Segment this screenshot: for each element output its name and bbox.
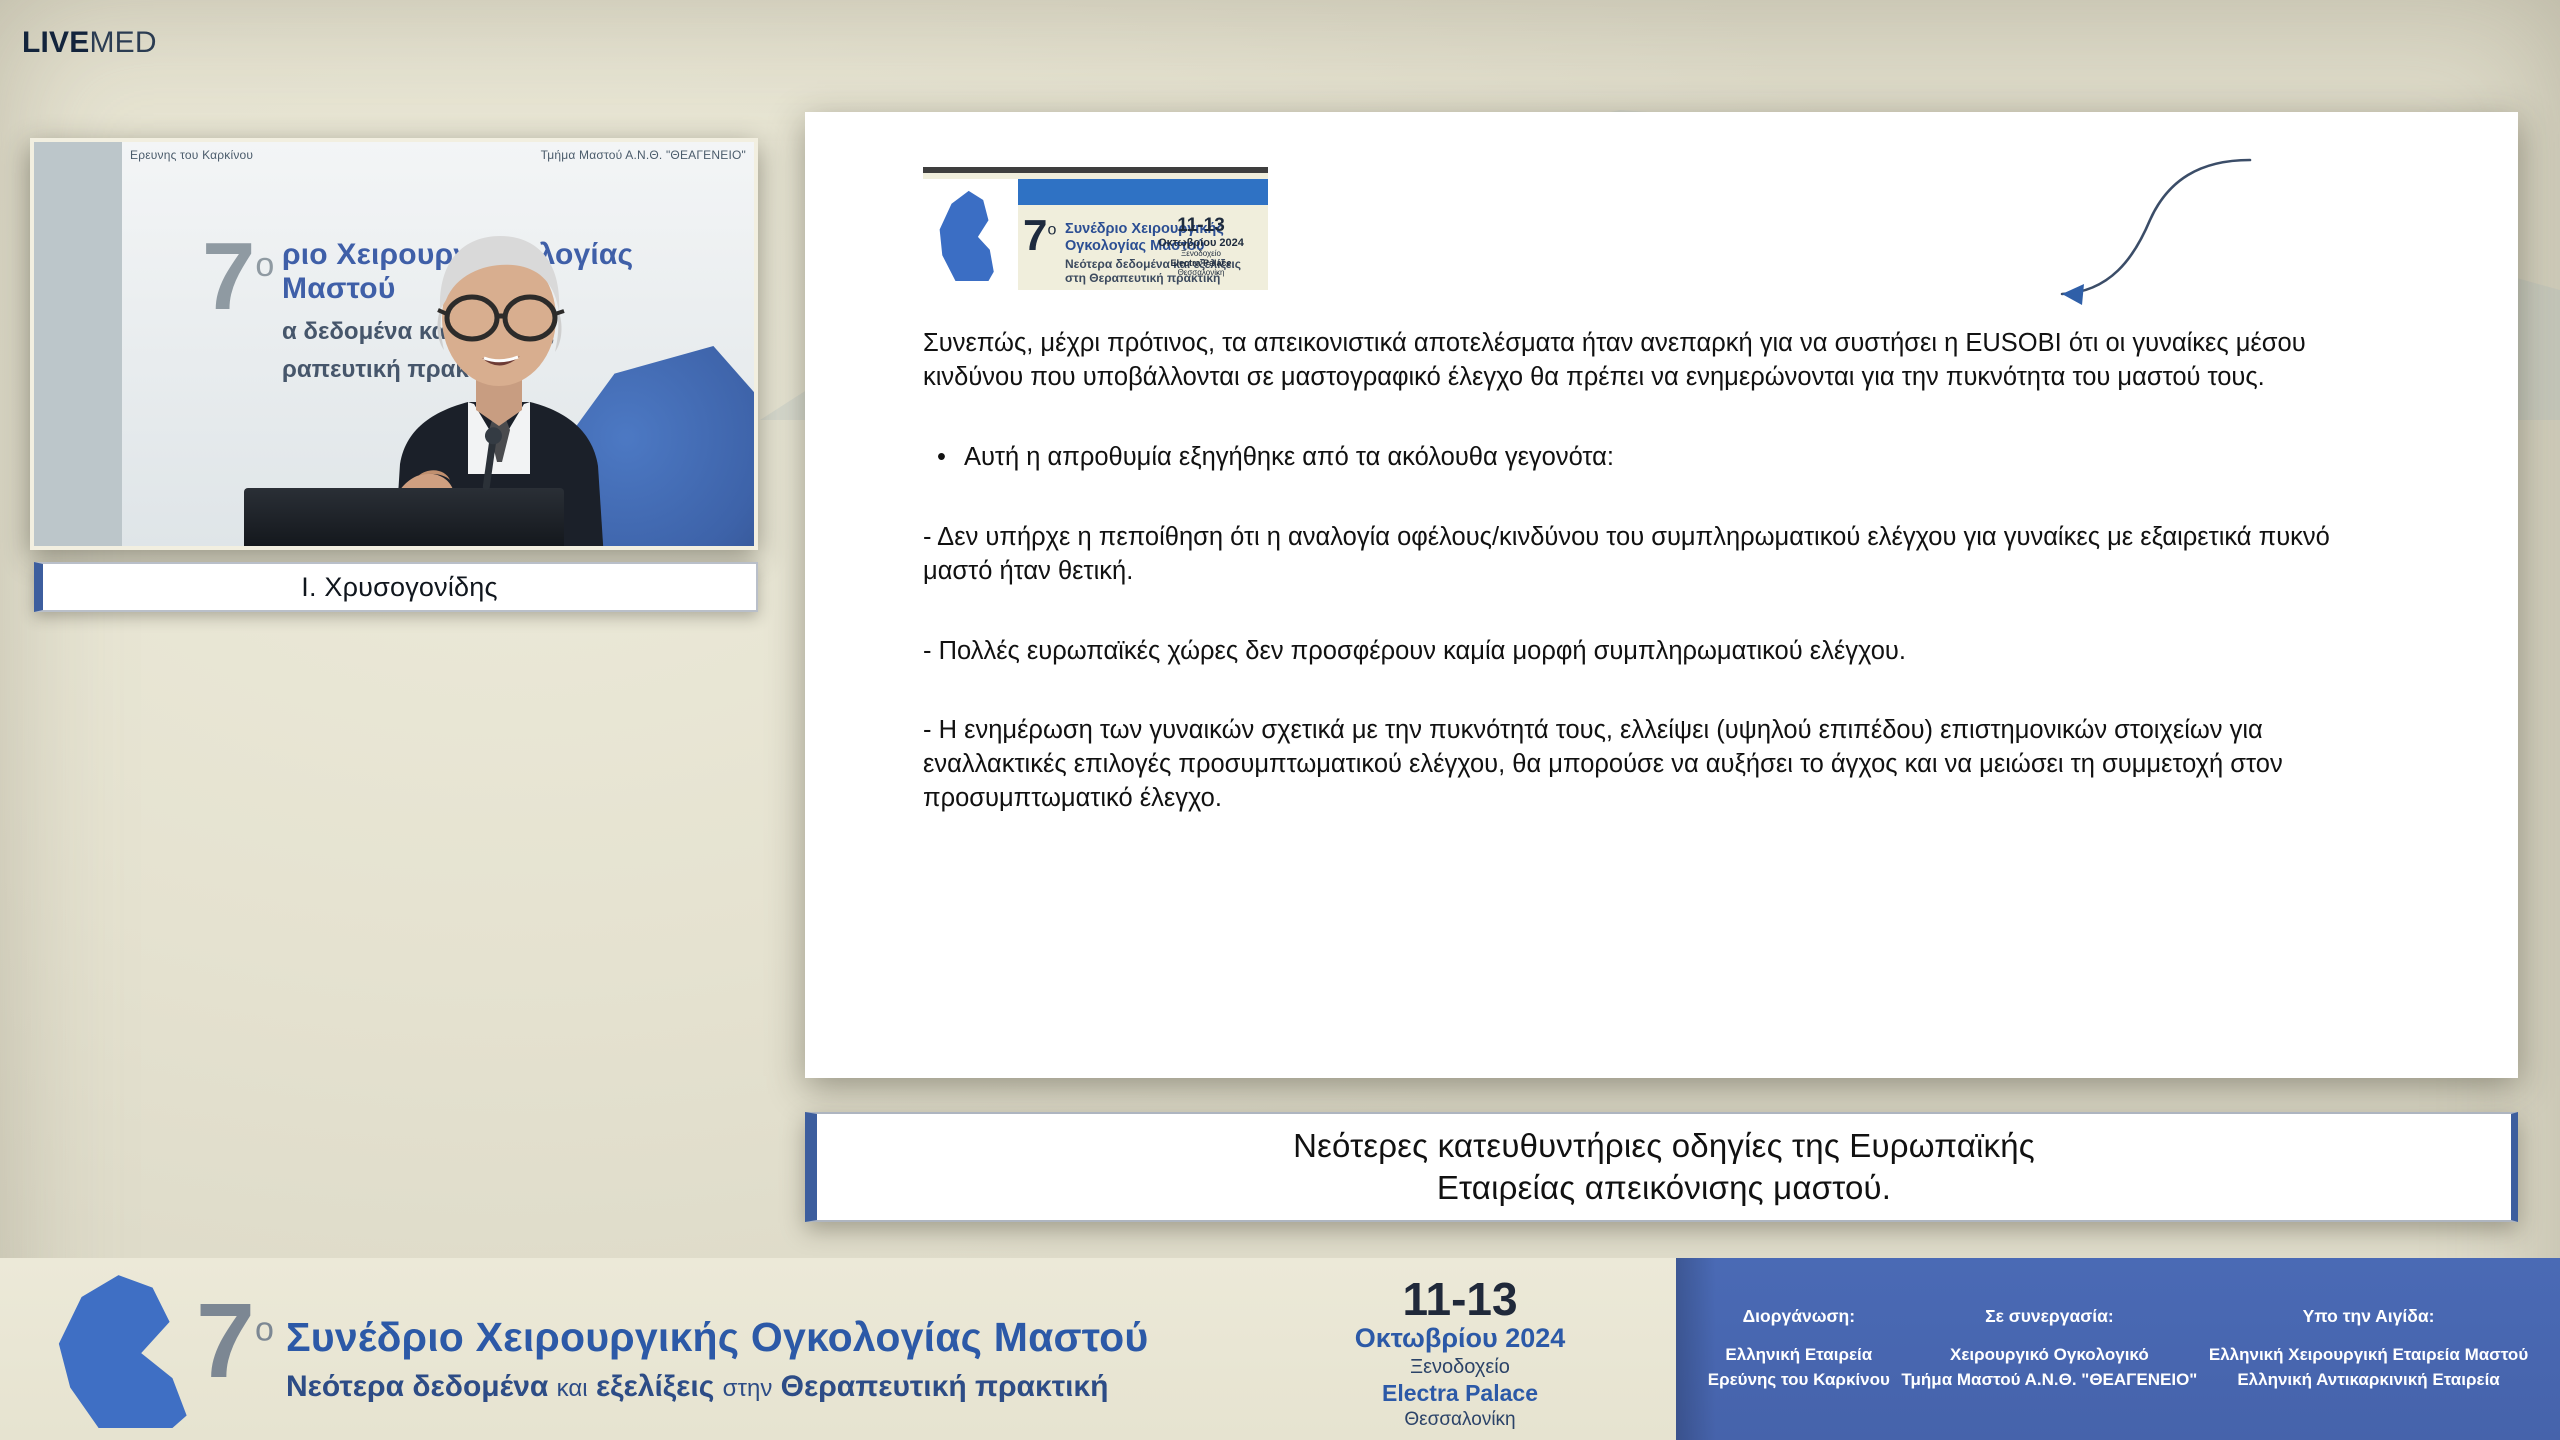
footer-dates: 11-13 xyxy=(1330,1276,1590,1322)
congress-footer: 7ο Συνέδριο Χειρουργικής Ογκολογίας Μαστ… xyxy=(0,1258,2560,1440)
speaker-video[interactable]: Ερευνης του Καρκίνου Τμήμα Μαστού Α.Ν.Θ.… xyxy=(30,138,758,550)
collaboration-header: Σε συνεργασία: xyxy=(1901,1306,2197,1327)
auspices-line-2: Ελληνική Αντικαρκινική Εταιρεία xyxy=(2209,1368,2528,1392)
slide-logo-venue-label: Ξενοδοχείο xyxy=(1146,249,1256,258)
slide-text-body: Συνεπώς, μέχρι πρότινος, τα απεικονιστικ… xyxy=(923,327,2406,862)
slide-logo-date-block: 11-13 Οκτωβρίου 2024 Ξενοδοχείο Electra … xyxy=(1146,215,1256,277)
footer-organizers: Διοργάνωση: Ελληνική Εταιρεία Ερεύνης το… xyxy=(1676,1258,2560,1440)
backdrop-credit-right: Τμήμα Μαστού Α.Ν.Θ. "ΘΕΑΓΕΝΕΙΟ" xyxy=(541,148,746,162)
footer-column-organization: Διοργάνωση: Ελληνική Εταιρεία Ερεύνης το… xyxy=(1708,1306,1890,1391)
collaboration-line-1: Χειρουργικό Ογκολογικό xyxy=(1901,1343,2197,1367)
organization-line-1: Ελληνική Εταιρεία xyxy=(1708,1343,1890,1367)
auspices-header: Υπο την Αιγίδα: xyxy=(2209,1306,2528,1327)
footer-sub-d: στην xyxy=(723,1375,773,1402)
livemed-logo: LIVEMED xyxy=(22,28,157,58)
collaboration-line-2: Τμήμα Μαστού Α.Ν.Θ. "ΘΕΑΓΕΝΕΙΟ" xyxy=(1901,1368,2197,1392)
footer-ordinal-number: 7 xyxy=(196,1282,255,1400)
organization-line-2: Ερεύνης του Καρκίνου xyxy=(1708,1368,1890,1392)
slide-bullet-item: • Αυτή η απροθυμία εξηγήθηκε από τα ακόλ… xyxy=(923,441,2406,475)
slide-bullet-text: Αυτή η απροθυμία εξηγήθηκε από τα ακόλου… xyxy=(964,441,1614,475)
podium xyxy=(244,488,564,546)
footer-edge-shadow xyxy=(1676,1258,1716,1440)
footer-sub-b: και xyxy=(557,1375,588,1402)
slide-logo-venue: Electra Palace xyxy=(1146,258,1256,268)
slide-dash-item-2: - Πολλές ευρωπαϊκές χώρες δεν προσφέρουν… xyxy=(923,635,2406,669)
talk-title-banner: Νεότερες κατευθυντήριες οδηγίες της Ευρω… xyxy=(805,1112,2518,1222)
slide-panel: 4 7ο Συνέδριο Χειρουργικής Ογκολογίας Μα… xyxy=(805,112,2518,1078)
slide-dash-item-1: - Δεν υπήρχε η πεποίθηση ότι η αναλογία … xyxy=(923,521,2406,589)
organization-header: Διοργάνωση: xyxy=(1708,1306,1890,1327)
auspices-line-1: Ελληνική Χειρουργική Εταιρεία Μαστού xyxy=(2209,1343,2528,1367)
slide-logo-ordinal-sup: ο xyxy=(1047,221,1056,238)
backdrop-top-credits: Ερευνης του Καρκίνου Τμήμα Μαστού Α.Ν.Θ.… xyxy=(130,148,746,162)
slide-logo-ordinal: 7ο xyxy=(1023,217,1056,254)
slide-paragraph-1: Συνεπώς, μέχρι πρότινος, τα απεικονιστικ… xyxy=(923,327,2406,395)
footer-column-collaboration: Σε συνεργασία: Χειρουργικό Ογκολογικό Τμ… xyxy=(1901,1306,2197,1391)
slide-congress-logo: 4 7ο Συνέδριο Χειρουργικής Ογκολογίας Μα… xyxy=(923,167,1268,290)
backdrop-ordinal: 7ο xyxy=(202,234,274,320)
talk-title: Νεότερες κατευθυντήριες οδηγίες της Ευρω… xyxy=(1293,1125,2035,1208)
speaker-name: Ι. Χρυσογονίδης xyxy=(301,572,497,603)
logo-live-text: LIVE xyxy=(22,26,89,59)
footer-month: Οκτωβρίου 2024 xyxy=(1330,1322,1590,1354)
footer-venue-label: Ξενοδοχείο xyxy=(1330,1354,1590,1380)
slide-logo-blue-bar xyxy=(1018,179,1268,205)
video-wall-left-panel xyxy=(34,142,122,546)
footer-column-auspices: Υπο την Αιγίδα: Ελληνική Χειρουργική Ετα… xyxy=(2209,1306,2528,1391)
footer-ordinal: 7ο xyxy=(196,1298,274,1385)
footer-city: Θεσσαλονίκη xyxy=(1330,1408,1590,1433)
presentation-stage: LIVEMED Ερευνης του Καρκίνου Τμήμα Μαστο… xyxy=(0,0,2560,1440)
slide-dash-item-3: - Η ενημέρωση των γυναικών σχετικά με τη… xyxy=(923,714,2406,816)
footer-date-block: 11-13 Οκτωβρίου 2024 Ξενοδοχείο Electra … xyxy=(1330,1276,1590,1433)
footer-congress-title: Συνέδριο Χειρουργικής Ογκολογίας Μαστού xyxy=(286,1314,1148,1361)
backdrop-credit-left: Ερευνης του Καρκίνου xyxy=(130,148,253,162)
curved-arrow-icon xyxy=(1950,142,2260,317)
backdrop-ordinal-sup: ο xyxy=(255,246,274,284)
talk-title-line-1: Νεότερες κατευθυντήριες οδηγίες της Ευρω… xyxy=(1293,1125,2035,1167)
slide-logo-city: Θεσσαλονίκη xyxy=(1146,268,1256,277)
footer-branding: 7ο Συνέδριο Χειρουργικής Ογκολογίας Μαστ… xyxy=(0,1258,1676,1440)
bullet-marker-icon: • xyxy=(937,441,946,475)
footer-sub-c: εξελίξεις xyxy=(596,1370,714,1403)
slide-logo-ordinal-number: 7 xyxy=(1023,211,1047,260)
logo-med-text: MED xyxy=(89,26,156,59)
footer-figure-icon xyxy=(56,1272,198,1428)
video-inner: Ερευνης του Καρκίνου Τμήμα Μαστού Α.Ν.Θ.… xyxy=(34,142,754,546)
talk-title-line-2: Εταιρείας απεικόνισης μαστού. xyxy=(1293,1167,2035,1209)
slide-logo-month: Οκτωβρίου 2024 xyxy=(1146,237,1256,249)
slide-logo-dates: 11-13 xyxy=(1146,215,1256,237)
footer-sub-a: Νεότερα δεδομένα xyxy=(286,1370,548,1403)
footer-ordinal-sup: ο xyxy=(255,1311,274,1349)
speaker-nameplate: Ι. Χρυσογονίδης xyxy=(34,562,758,612)
footer-congress-subtitle: Νεότερα δεδομένα και εξελίξεις στην Θερα… xyxy=(286,1370,1109,1404)
backdrop-ordinal-number: 7 xyxy=(202,223,255,330)
footer-venue: Electra Palace xyxy=(1330,1380,1590,1408)
footer-sub-e: Θεραπευτική πρακτική xyxy=(781,1370,1109,1403)
